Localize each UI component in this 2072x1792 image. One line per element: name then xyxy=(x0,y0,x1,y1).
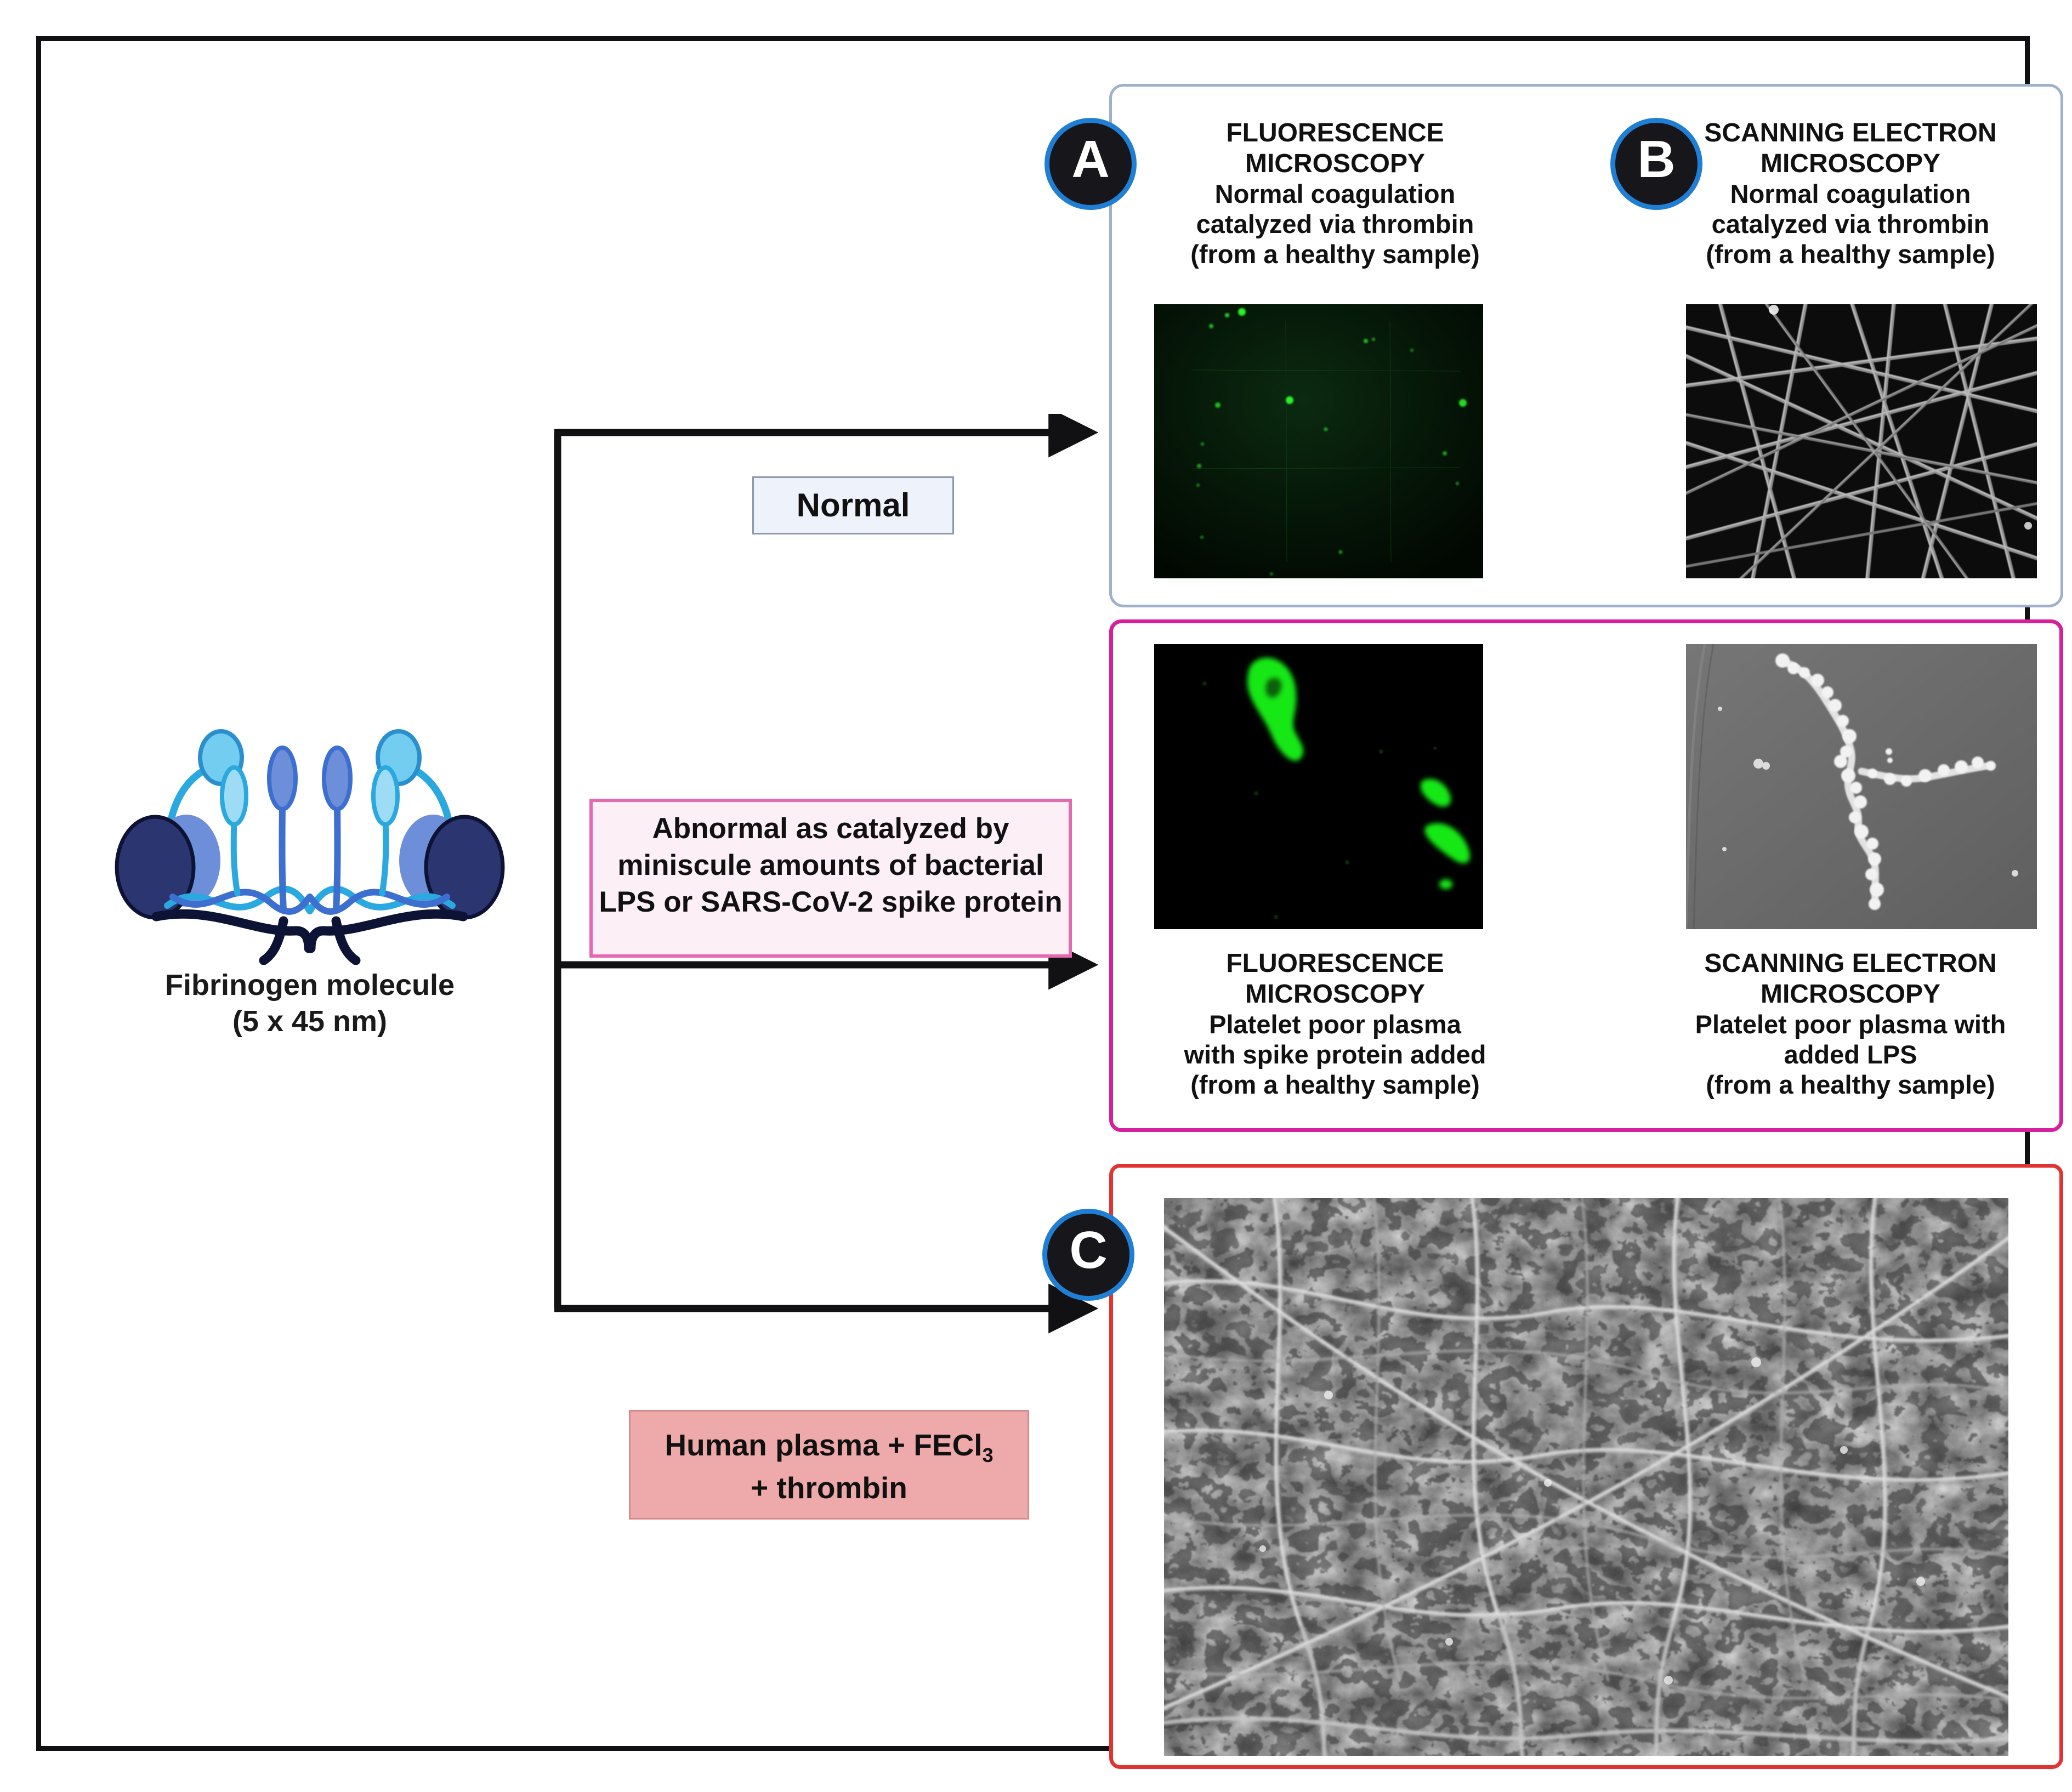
label-fecl3-line1: Human plasma + FECl xyxy=(665,1428,982,1462)
label-fecl3-subscript: 3 xyxy=(983,1444,994,1466)
fluorescence-normal-micrograph xyxy=(1154,304,1483,578)
caption-mid-left-body-line1: Platelet poor plasma xyxy=(1132,1010,1538,1040)
caption-fluorescence-spike: FLUORESCENCE MICROSCOPY Platelet poor pl… xyxy=(1132,948,1538,1100)
caption-a-body-line2: catalyzed via thrombin xyxy=(1138,209,1532,240)
label-fecl3-line2: + thrombin xyxy=(751,1471,907,1505)
caption-panel-b: SCANNING ELECTRON MICROSCOPY Normal coag… xyxy=(1648,118,2053,270)
caption-a-body-line1: Normal coagulation xyxy=(1138,179,1532,209)
caption-b-title-line2: MICROSCOPY xyxy=(1648,149,2053,179)
sem-normal-micrograph xyxy=(1686,304,2037,578)
caption-mid-right-title-line2: MICROSCOPY xyxy=(1648,979,2053,1010)
caption-a-body-line3: (from a healthy sample) xyxy=(1138,240,1532,270)
sem-fecl3-thrombin-micrograph xyxy=(1164,1198,2008,1756)
fibrinogen-caption: Fibrinogen molecule (5 x 45 nm) xyxy=(112,968,507,1040)
caption-sem-lps: SCANNING ELECTRON MICROSCOPY Platelet po… xyxy=(1648,948,2053,1100)
label-normal: Normal xyxy=(752,476,954,534)
fluorescence-spike-protein-micrograph xyxy=(1154,644,1483,929)
caption-mid-left-body-line2: with spike protein added xyxy=(1132,1040,1538,1070)
caption-mid-left-body-line3: (from a healthy sample) xyxy=(1132,1070,1538,1100)
panel-badge-a: A xyxy=(1044,118,1137,210)
caption-b-body-line3: (from a healthy sample) xyxy=(1648,240,2053,270)
caption-panel-a: FLUORESCENCE MICROSCOPY Normal coagulati… xyxy=(1138,118,1532,270)
label-fecl3-thrombin: Human plasma + FECl3 + thrombin xyxy=(629,1410,1029,1520)
caption-a-title-line2: MICROSCOPY xyxy=(1138,149,1532,179)
caption-mid-right-title-line1: SCANNING ELECTRON xyxy=(1648,948,2053,979)
caption-mid-left-title-line2: MICROSCOPY xyxy=(1132,979,1538,1010)
fibrinogen-molecule-icon xyxy=(90,713,529,965)
panel-badge-c: C xyxy=(1042,1209,1134,1301)
caption-b-body-line1: Normal coagulation xyxy=(1648,179,2053,209)
fibrinogen-caption-line2: (5 x 45 nm) xyxy=(112,1004,507,1040)
diagram-outer-frame: Fibrinogen molecule (5 x 45 nm) Normal A… xyxy=(36,36,2030,1751)
caption-b-body-line2: catalyzed via thrombin xyxy=(1648,209,2053,240)
caption-mid-left-title-line1: FLUORESCENCE xyxy=(1132,948,1538,979)
caption-mid-right-body-line3: (from a healthy sample) xyxy=(1648,1070,2053,1100)
panel-badge-b: B xyxy=(1610,118,1702,210)
caption-a-title-line1: FLUORESCENCE xyxy=(1138,118,1532,149)
caption-b-title-line1: SCANNING ELECTRON xyxy=(1648,118,2053,149)
sem-lps-micrograph xyxy=(1686,644,2037,929)
label-abnormal: Abnormal as catalyzed by miniscule amoun… xyxy=(589,799,1072,958)
caption-mid-right-body-line2: added LPS xyxy=(1648,1040,2053,1070)
caption-mid-right-body-line1: Platelet poor plasma with xyxy=(1648,1010,2053,1040)
fibrinogen-caption-line1: Fibrinogen molecule xyxy=(112,968,507,1004)
